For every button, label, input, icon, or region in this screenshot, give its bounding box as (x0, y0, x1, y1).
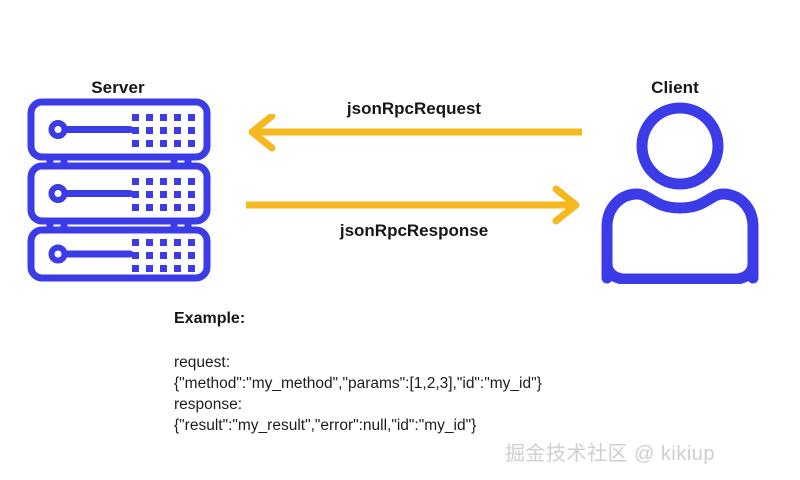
response-arrow-label: jsonRpcResponse (244, 221, 584, 241)
watermark: 掘金技术社区 @ kikiup (505, 437, 715, 466)
example-line-response-label: response: (174, 394, 542, 415)
server-rack-icon (26, 98, 212, 282)
example-heading: Example: (174, 310, 245, 328)
client-title: Client (600, 78, 750, 98)
diagram-canvas: Server (0, 0, 800, 480)
example-line-request-label: request: (174, 352, 542, 373)
arrow-left-icon (244, 114, 584, 156)
arrow-right-icon (244, 184, 584, 226)
server-title: Server (28, 78, 208, 98)
user-person-icon (596, 98, 764, 284)
example-code-block: request: {"method":"my_method","params":… (174, 352, 542, 436)
example-line-request-json: {"method":"my_method","params":[1,2,3],"… (174, 373, 542, 394)
example-line-response-json: {"result":"my_result","error":null,"id":… (174, 415, 542, 436)
